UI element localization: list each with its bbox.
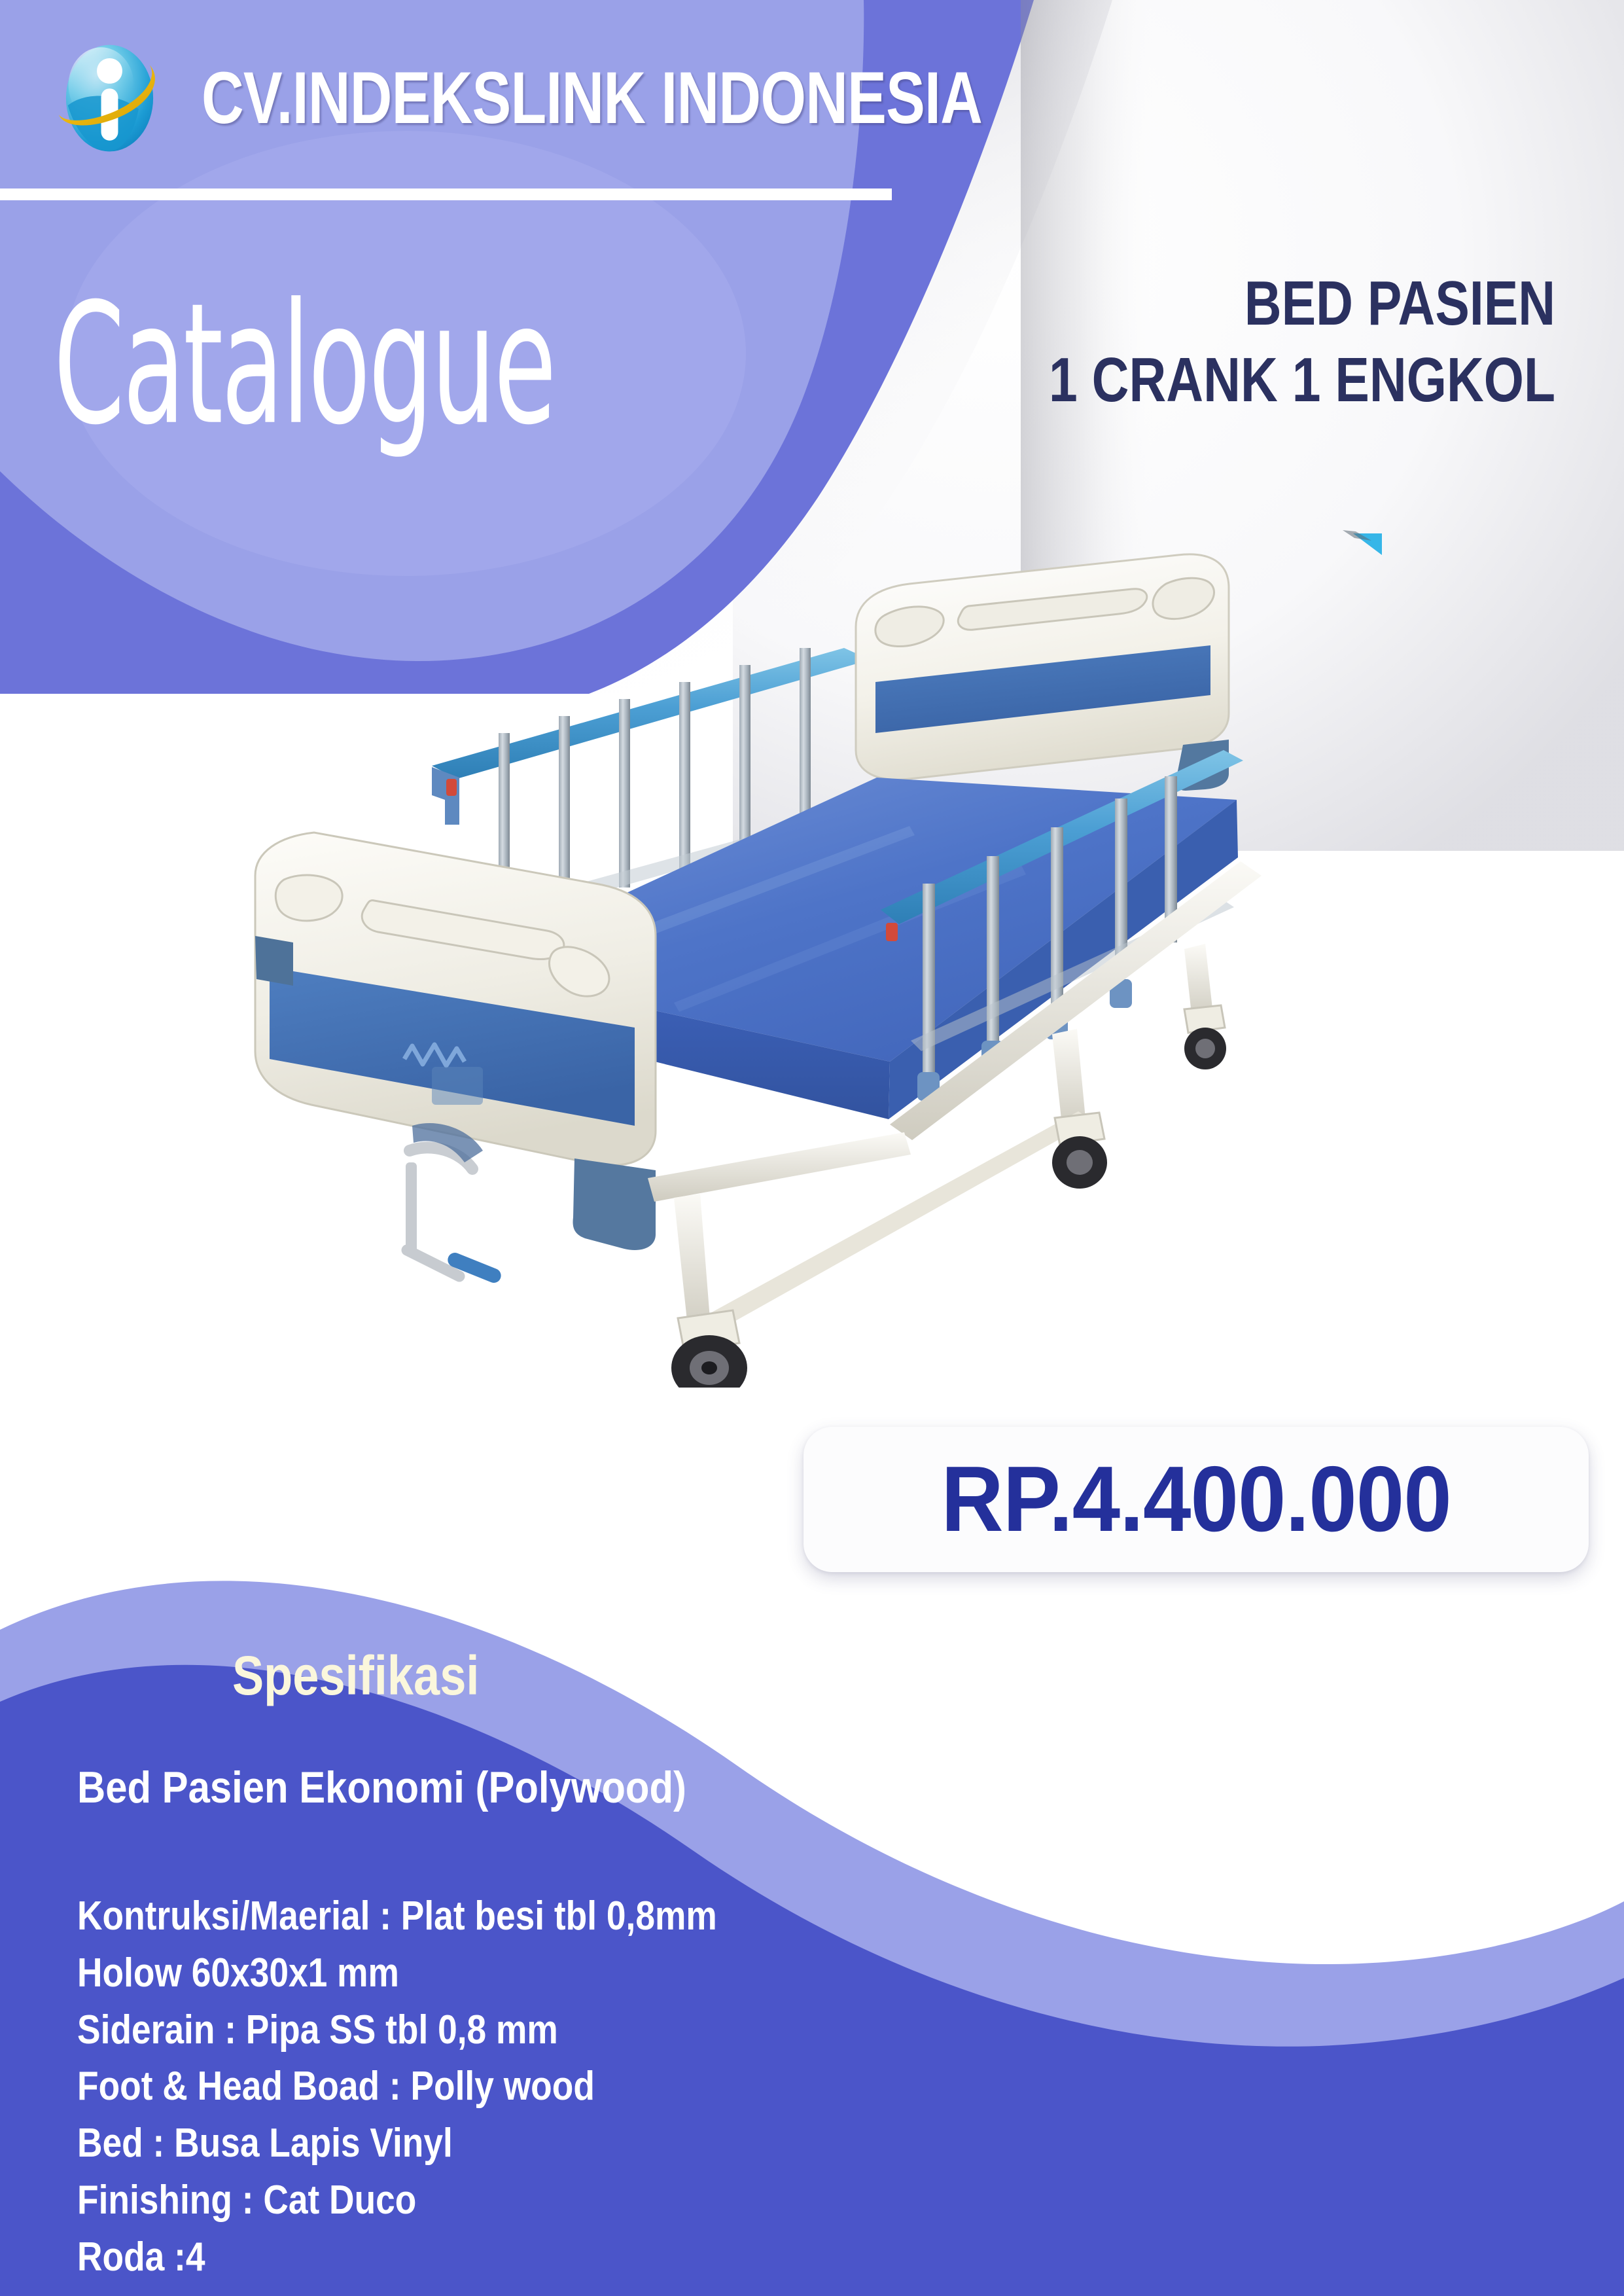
catalogue-heading: Catalogue xyxy=(54,281,555,448)
list-item: Kontruksi/Maerial : Plat besi tbl 0,8mm xyxy=(77,1888,717,1945)
price-card[interactable]: RP.4.400.000 xyxy=(803,1427,1589,1572)
list-item: Holow 60x30x1 mm xyxy=(77,1945,717,2002)
company-name: CV.INDEKSLINK INDONESIA xyxy=(202,62,982,135)
list-item: Finishing : Cat Duco xyxy=(77,2172,717,2229)
list-item: Roda :4 xyxy=(77,2229,717,2286)
spesifikasi-list: Kontruksi/Maerial : Plat besi tbl 0,8mm … xyxy=(77,1888,821,2286)
brand-header: CV.INDEKSLINK INDONESIA xyxy=(49,36,1177,160)
list-item: Siderain : Pipa SS tbl 0,8 mm xyxy=(77,2002,717,2059)
hospital-bed-photo xyxy=(216,517,1400,1388)
product-title-line2: 1 CRANK 1 ENGKOL xyxy=(1049,342,1555,418)
spesifikasi-subtitle: Bed Pasien Ekonomi (Polywood) xyxy=(77,1765,686,1810)
product-title: BED PASIEN 1 CRANK 1 ENGKOL xyxy=(938,265,1555,418)
list-item: Bed : Busa Lapis Vinyl xyxy=(77,2115,717,2172)
product-title-line1: BED PASIEN xyxy=(1049,265,1555,342)
globe-person-swoosh-logo xyxy=(49,36,170,160)
list-item: Foot & Head Boad : Polly wood xyxy=(77,2058,717,2115)
spesifikasi-heading: Spesifikasi xyxy=(232,1648,479,1703)
price-value: RP.4.400.000 xyxy=(941,1453,1451,1546)
